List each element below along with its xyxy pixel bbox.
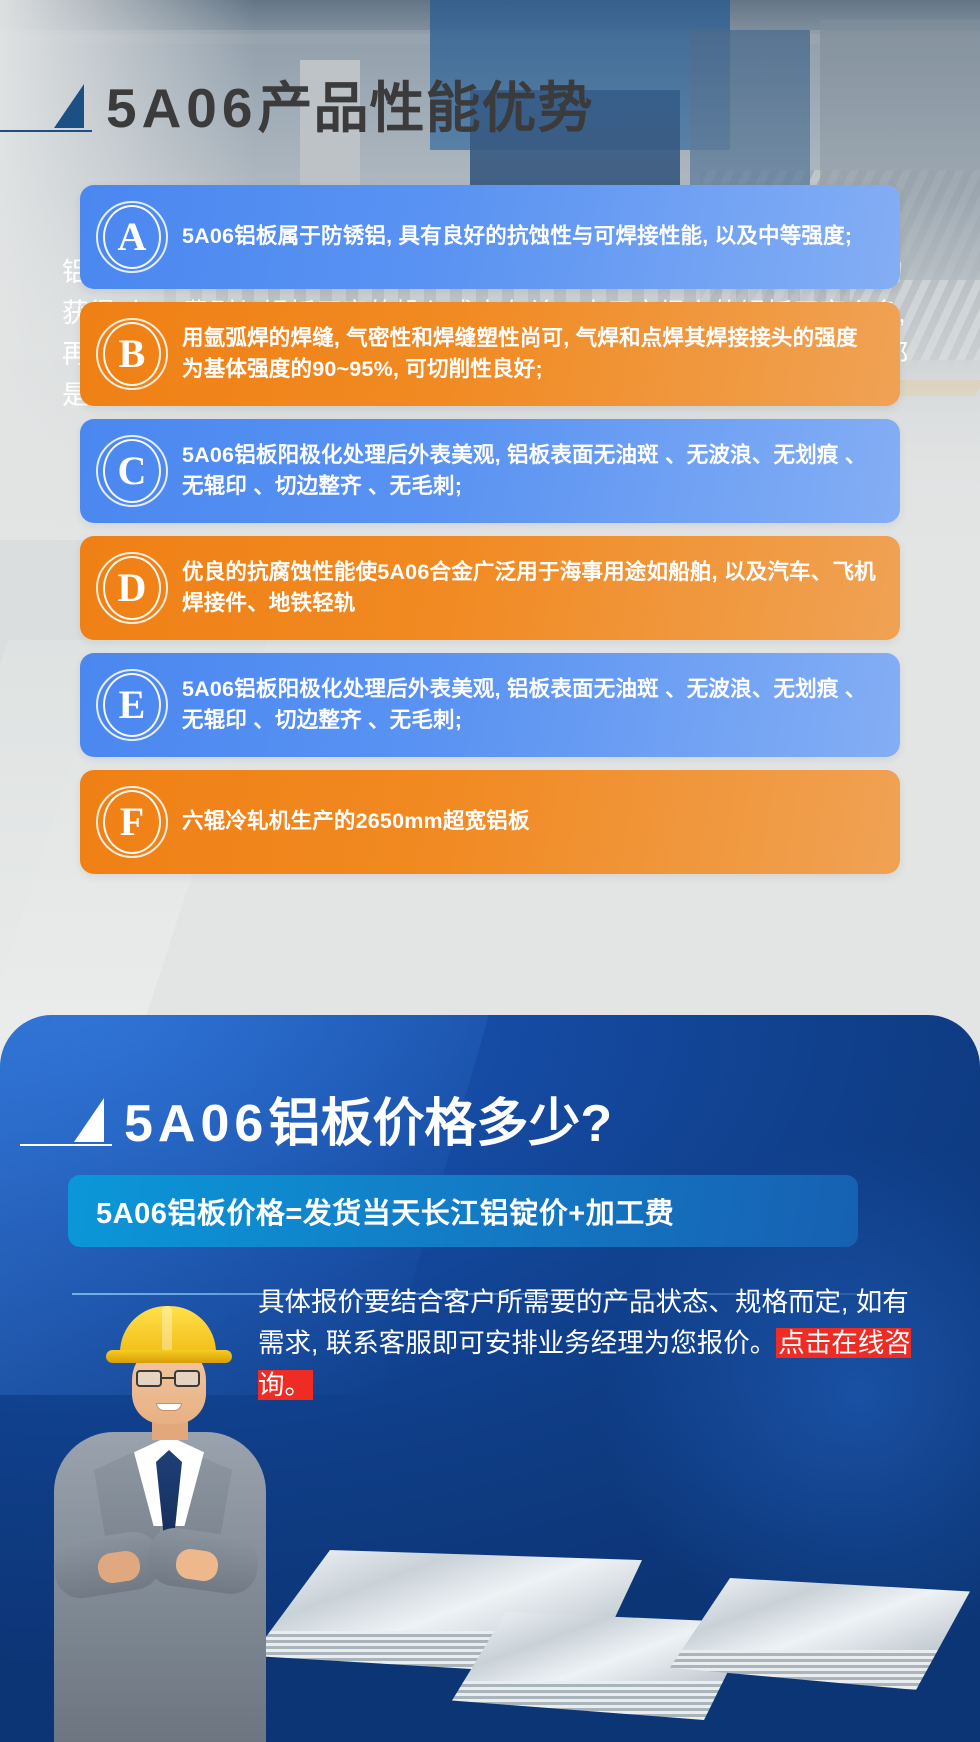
quote-instruction-paragraph: 具体报价要结合客户所需要的产品状态、规格而定, 如有需求, 联系客服即可安排业务… <box>258 1282 918 1406</box>
aluminum-sheet-stacks-photo <box>240 1492 980 1742</box>
feature-card-b[interactable]: B 用氩弧焊的焊缝, 气密性和焊缝塑性尚可, 气焊和点焊其焊接接头的强度为基体强… <box>80 302 900 406</box>
section2-title-cn: 铝板价格多少? <box>268 1095 612 1153</box>
feature-card-f[interactable]: F 六辊冷轧机生产的2650mm超宽铝板 <box>80 770 900 874</box>
poster-page: 5A06产品性能优势 A 5A06铝板属于防锈铝, 具有良好的抗蚀性与可焊接性能… <box>0 0 980 1742</box>
feature-card-a[interactable]: A 5A06铝板属于防锈铝, 具有良好的抗蚀性与可焊接性能, 以及中等强度; <box>80 185 900 289</box>
feature-card-text: 用氩弧焊的焊缝, 气密性和焊缝塑性尚可, 气焊和点焊其焊接接头的强度为基体强度的… <box>182 323 878 385</box>
badge-letter-text: F <box>96 786 168 858</box>
feature-card-text: 5A06铝板阳极化处理后外表美观, 铝板表面无油斑 、无波浪、无划痕 、无辊印 … <box>182 440 878 502</box>
badge-letter-e-icon: E <box>96 669 168 741</box>
engineer-photo <box>36 1300 266 1742</box>
badge-letter-c-icon: C <box>96 435 168 507</box>
badge-letter-b-icon: B <box>96 318 168 390</box>
section2-title-en: 5A06 <box>124 1095 268 1153</box>
section1-heading: 5A06产品性能优势 <box>46 76 594 136</box>
section2-heading: 5A06铝板价格多少? <box>66 1090 612 1150</box>
badge-letter-d-icon: D <box>96 552 168 624</box>
feature-card-text: 5A06铝板属于防锈铝, 具有良好的抗蚀性与可焊接性能, 以及中等强度; <box>182 221 852 252</box>
section2-title: 5A06铝板价格多少? <box>124 1098 612 1150</box>
badge-letter-f-icon: F <box>96 786 168 858</box>
section1-title-cn: 产品性能优势 <box>257 77 593 139</box>
feature-card-text: 优良的抗腐蚀性能使5A06合金广泛用于海事用途如船舶, 以及汽车、飞机焊接件、地… <box>182 557 878 619</box>
feature-card-e[interactable]: E 5A06铝板阳极化处理后外表美观, 铝板表面无油斑 、无波浪、无划痕 、无辊… <box>80 653 900 757</box>
feature-card-c[interactable]: C 5A06铝板阳极化处理后外表美观, 铝板表面无油斑 、无波浪、无划痕 、无辊… <box>80 419 900 523</box>
badge-letter-text: B <box>96 318 168 390</box>
feature-card-d[interactable]: D 优良的抗腐蚀性能使5A06合金广泛用于海事用途如船舶, 以及汽车、飞机焊接件… <box>80 536 900 640</box>
badge-letter-text: D <box>96 552 168 624</box>
badge-letter-text: E <box>96 669 168 741</box>
feature-card-text: 5A06铝板阳极化处理后外表美观, 铝板表面无油斑 、无波浪、无划痕 、无辊印 … <box>182 674 878 736</box>
price-formula-banner: 5A06铝板价格=发货当天长江铝锭价+加工费 <box>68 1175 858 1247</box>
badge-letter-text: C <box>96 435 168 507</box>
section1-title: 5A06产品性能优势 <box>106 81 594 136</box>
badge-letter-a-icon: A <box>96 201 168 273</box>
price-formula-text: 5A06铝板价格=发货当天长江铝锭价+加工费 <box>96 1190 674 1232</box>
triangle-marker-icon <box>66 1090 112 1146</box>
triangle-marker-icon <box>46 76 92 132</box>
section1-title-en: 5A06 <box>106 77 257 139</box>
feature-card-list: A 5A06铝板属于防锈铝, 具有良好的抗蚀性与可焊接性能, 以及中等强度; B… <box>80 185 900 874</box>
feature-card-text: 六辊冷轧机生产的2650mm超宽铝板 <box>182 806 530 837</box>
badge-letter-text: A <box>96 201 168 273</box>
